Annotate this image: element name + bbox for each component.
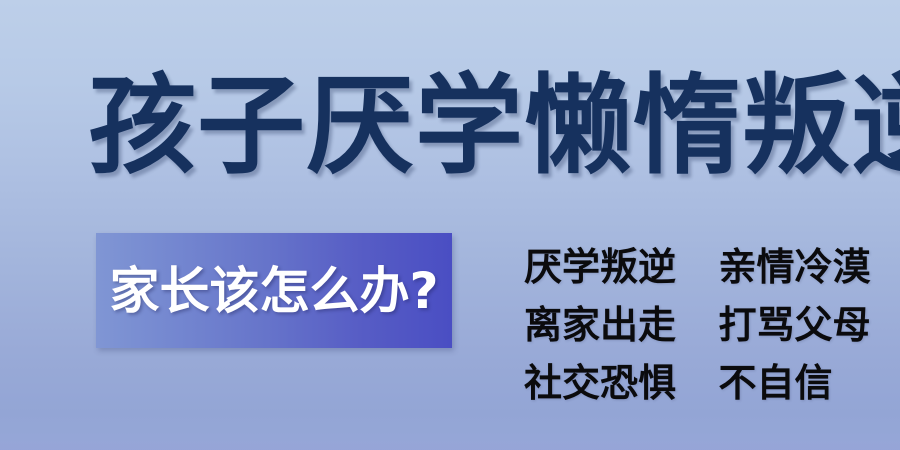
symptom-left-2: 离家出走 [524, 303, 676, 347]
symptom-right-1: 亲情冷漠 [718, 245, 870, 289]
list-item: 厌学叛逆 亲情冷漠 [524, 238, 880, 296]
symptom-list: 厌学叛逆 亲情冷漠 离家出走 打骂父母 社交恐惧 不自信 [524, 238, 880, 412]
headline-segment-3: 叛逆 [742, 72, 900, 182]
question-banner-label: 家长该怎么办? [109, 266, 438, 316]
headline-segment-2: 懒惰 [524, 72, 742, 182]
symptom-right-2: 打骂父母 [718, 303, 870, 347]
bottom-gradient-band [0, 436, 900, 450]
headline-segment-1: 孩子厌学 [88, 72, 524, 182]
symptom-right-3: 不自信 [718, 361, 832, 405]
symptom-left-1: 厌学叛逆 [524, 245, 676, 289]
list-item: 离家出走 打骂父母 [524, 296, 880, 354]
list-item: 社交恐惧 不自信 [524, 354, 880, 412]
page-title: 孩子厌学 懒惰 叛逆 [88, 62, 828, 192]
question-banner: 家长该怎么办? [96, 233, 452, 348]
symptom-left-3: 社交恐惧 [524, 361, 676, 405]
poster-canvas: 孩子厌学 懒惰 叛逆 家长该怎么办? 厌学叛逆 亲情冷漠 离家出走 打骂父母 社… [0, 0, 900, 450]
